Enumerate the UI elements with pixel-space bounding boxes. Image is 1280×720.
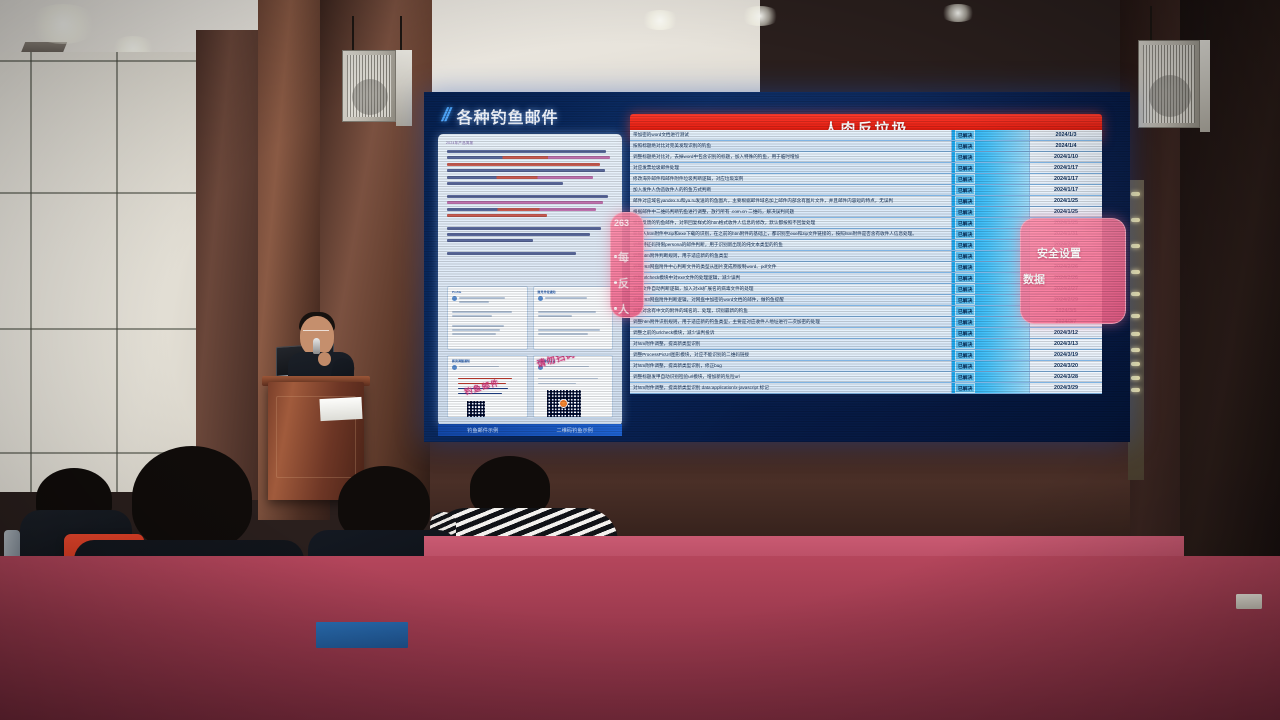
table-row: 修改海外邮件和邮件附件垃圾判断逻辑，对应垃圾案例已解决2024/1/17 <box>630 174 1102 185</box>
conference-room-scene: // 各种钓鱼邮件 2024年产品简报 <box>0 0 1280 720</box>
table-cell-status: 已解决 <box>952 295 1030 305</box>
ceiling-light-6 <box>940 4 976 22</box>
table-cell-description: 按照标题绝对比对完美发现识别的钓鱼 <box>630 141 952 151</box>
table-cell-status: 已解决 <box>952 383 1030 393</box>
slide-title-text: 各种钓鱼邮件 <box>457 104 559 128</box>
table-cell-status: 已解决 <box>952 196 1030 206</box>
status-badge: 已解决 <box>955 372 975 382</box>
led-accent-column <box>1128 180 1144 480</box>
presenter-glasses-icon <box>303 330 329 335</box>
table-cell-date: 2024/3/19 <box>1030 350 1102 360</box>
table-cell-description: 邮件对应域名yandex.ru和ya.ru发送的钓鱼图片，主要根据邮件域名加上邮… <box>630 196 952 206</box>
floor-carpet <box>0 556 1280 720</box>
status-badge: 已解决 <box>955 141 975 151</box>
ceiling-light-1 <box>28 4 98 44</box>
strip-label-left: 钓鱼邮件示例 <box>467 427 498 434</box>
table-cell-description: 调整263网盘附件中心判断文件的类型从图片变成原版制word、pdf文件 <box>630 262 952 272</box>
table-cell-status: 已解决 <box>952 328 1030 338</box>
status-badge: 已解决 <box>955 339 975 349</box>
status-badge: 已解决 <box>955 130 975 140</box>
status-badge: 已解决 <box>955 196 975 206</box>
status-badge: 已解决 <box>955 317 975 327</box>
table-cell-date: 2024/1/17 <box>1030 174 1102 184</box>
status-badge: 已解决 <box>955 295 975 305</box>
mail-thumbnail: Profile <box>447 286 528 350</box>
table-cell-description: 对htm附件调整，提高新类型识别 data:application/x-java… <box>630 383 952 393</box>
pink-overlay-right: 安全设置 数据 <box>1020 218 1126 324</box>
table-cell-status: 已解决 <box>952 317 1030 327</box>
status-badge: 已解决 <box>955 361 975 371</box>
ceiling-light-4 <box>640 10 680 30</box>
overlay-left-number: 263 <box>614 218 629 228</box>
document-card-header: 2024年产品简报 <box>446 140 473 145</box>
table-row: 对应发票垃圾邮件处理已解决2024/1/17 <box>630 163 1102 174</box>
table-cell-date: 2024/3/13 <box>1030 339 1102 349</box>
table-cell-date: 2024/1/3 <box>1030 130 1102 140</box>
table-cell-status: 已解决 <box>952 284 1030 294</box>
table-row: 调整ProcessPicUrl图形模块，对应不能识别的二维码链接已解决2024/… <box>630 350 1102 361</box>
table-cell-date: 2024/3/29 <box>1030 383 1102 393</box>
table-cell-description: 调整对含有中文的附件的域名的、处理，识别最新的钓鱼 <box>630 306 952 316</box>
status-badge: 已解决 <box>955 306 975 316</box>
status-badge: 已解决 <box>955 163 975 173</box>
mail-thumb-header: 薪资调整通知 <box>452 359 470 363</box>
document-card: 2024年产品简报 <box>438 134 622 426</box>
table-row: 对htm附件调整，提高新类型识别已解决2024/3/13 <box>630 339 1102 350</box>
table-cell-description: 修改海外邮件和邮件附件垃圾判断逻辑，对应垃圾案例 <box>630 174 952 184</box>
status-badge: 已解决 <box>955 229 975 239</box>
overlay-right-line-2: 数据 <box>1023 271 1045 287</box>
status-badge: 已解决 <box>955 185 975 195</box>
table-cell-description: 调整标题发甲自动识别检验url模块，增加新的危险url <box>630 372 952 382</box>
table-cell-description: 调整文件自动判断逻辑，加入对xls扩展名的病毒文件的处理 <box>630 284 952 294</box>
overlay-left-item-2: 反 <box>618 275 629 291</box>
mail-thumb-header: Profile <box>452 290 461 294</box>
overlay-left-item-1: 每 <box>618 249 629 265</box>
table-cell-status: 已解决 <box>952 152 1030 162</box>
table-cell-status: 已解决 <box>952 339 1030 349</box>
status-badge: 已解决 <box>955 174 975 184</box>
table-cell-description: 调整htm附件判断规则，用于适应新的钓鱼类型 <box>630 251 952 261</box>
table-cell-description: 对htm附件调整，提高新类型识别，修正bug <box>630 361 952 371</box>
status-badge: 已解决 <box>955 273 975 283</box>
table-cell-status: 已解决 <box>952 361 1030 371</box>
ceiling-light-5 <box>740 6 780 26</box>
table-row: 邮件对应域名yandex.ru和ya.ru发送的钓鱼图片，主要根据邮件域名加上邮… <box>630 196 1102 207</box>
table-row: 根据邮件中二维码判断钓鱼进行调整，放行所有 .com.cn 二维码，解决误判问题… <box>630 207 1102 218</box>
table-cell-date: 2024/1/10 <box>1030 152 1102 162</box>
status-badge: 已解决 <box>955 350 975 360</box>
table-cell-description: 调整ProcessPicUrl图形模块，对应不能识别的二维码链接 <box>630 350 952 360</box>
table-cell-status: 已解决 <box>952 218 1030 228</box>
phishing-stamp: 钓鱼邮件 <box>463 377 501 397</box>
status-badge: 已解决 <box>955 383 975 393</box>
table-cell-status: 已解决 <box>952 350 1030 360</box>
table-row: 调整标题发甲自动识别检验url模块，增加新的危险url已解决2024/3/28 <box>630 372 1102 383</box>
table-cell-date: 2024/1/4 <box>1030 141 1102 151</box>
table-cell-date: 2024/3/12 <box>1030 328 1102 338</box>
status-badge: 已解决 <box>955 251 975 261</box>
table-cell-description: 调整特征码持限persona的邮件判断，用于识别新出现的纯文本类型的钓鱼 <box>630 240 952 250</box>
table-cell-date: 2024/3/20 <box>1030 361 1102 371</box>
table-cell-description: 调整263网盘附件判断逻辑，对网盘中加密的word文档的邮件，做钓鱼提醒 <box>630 295 952 305</box>
table-cell-status: 已解决 <box>952 185 1030 195</box>
table-cell-description: 调整htm附件识别规则，用于适应新的钓鱼类型，主要是对应收件人地址进行二次加密的… <box>630 317 952 327</box>
mail-avatar-icon <box>538 296 543 301</box>
mail-thumbnail: 企业微信认证 请勿扫码 <box>533 355 614 419</box>
table-cell-description: 根据反馈的钓鱼邮件，对带回复样式的htm格式收件人信息的修改，默认都按照不回复处… <box>630 218 952 228</box>
slide-title: // 各种钓鱼邮件 <box>442 104 559 128</box>
table-cell-status: 已解决 <box>952 174 1030 184</box>
table-cell-description: 调整urlcheck模块中对exe文件的处理逻辑，减少误判 <box>630 273 952 283</box>
table-cell-description: 带加密的word文档进行测试 <box>630 130 952 140</box>
qr-center-logo-icon <box>559 399 568 408</box>
slide-bottom-strip: 钓鱼邮件示例 二维码钓鱼示例 <box>438 424 622 436</box>
slash-icon: // <box>439 105 451 127</box>
status-badge: 已解决 <box>955 262 975 272</box>
table-cell-date: 2024/1/17 <box>1030 163 1102 173</box>
table-cell-status: 已解决 <box>952 141 1030 151</box>
microphone-icon <box>313 338 320 354</box>
table-row: 调整标题绝对比对，去掉word中包含识别的标题，加入特殊的钓鱼，用于临时增加已解… <box>630 152 1102 163</box>
table-cell-status: 已解决 <box>952 372 1030 382</box>
table-cell-description: 对htm附件调整，提高新类型识别 <box>630 339 952 349</box>
table-cell-description: 加入发件人伪造收件人的钓鱼方式判断 <box>630 185 952 195</box>
table-cell-date: 2024/3/28 <box>1030 372 1102 382</box>
notepad <box>316 622 408 648</box>
table-row: 带加密的word文档进行测试已解决2024/1/3 <box>630 130 1102 141</box>
table-row: 调整之前的urlcheck模块，减少误判投诉已解决2024/3/12 <box>630 328 1102 339</box>
mail-avatar-icon <box>452 296 457 301</box>
mail-thumbnail: 薪资调整通知 钓鱼邮件 <box>447 355 528 419</box>
overlay-left-item-3: 人 <box>618 301 629 317</box>
table-cell-status: 已解决 <box>952 163 1030 173</box>
mail-thumbnail: 账号异常通知 <box>533 286 614 350</box>
table-cell-status: 已解决 <box>952 251 1030 261</box>
status-badge: 已解决 <box>955 152 975 162</box>
table-cell-date: 2024/1/25 <box>1030 207 1102 217</box>
status-badge: 已解决 <box>955 328 975 338</box>
table-cell-description: 调整标题绝对比对，去掉word中包含识别的标题，加入特殊的钓鱼，用于临时增加 <box>630 152 952 162</box>
status-badge: 已解决 <box>955 218 975 228</box>
overlay-right-line-1: 安全设置 <box>1037 245 1081 261</box>
status-badge: 已解决 <box>955 207 975 217</box>
phishing-stamp: 请勿扫码 <box>534 355 576 370</box>
table-cell-status: 已解决 <box>952 273 1030 283</box>
document-text-lines <box>447 150 613 259</box>
table-cell-status: 已解决 <box>952 130 1030 140</box>
presenter-hand <box>318 352 331 366</box>
table-cell-status: 已解决 <box>952 240 1030 250</box>
table-cell-status: 已解决 <box>952 262 1030 272</box>
mail-thumbnail-grid: Profile 账号异常通知 <box>447 286 613 418</box>
wall-outlet <box>1236 594 1262 609</box>
status-badge: 已解决 <box>955 240 975 250</box>
table-cell-description: 对应发票垃圾邮件处理 <box>630 163 952 173</box>
table-cell-status: 已解决 <box>952 306 1030 316</box>
table-row: 对htm附件调整，提高新类型识别 data:application/x-java… <box>630 383 1102 394</box>
table-cell-date: 2024/1/25 <box>1030 196 1102 206</box>
table-cell-status: 已解决 <box>952 229 1030 239</box>
table-row: 按照标题绝对比对完美发现识别的钓鱼已解决2024/1/4 <box>630 141 1102 152</box>
table-cell-status: 已解决 <box>952 207 1030 217</box>
strip-label-right: 二维码钓鱼示例 <box>557 427 593 434</box>
table-cell-description: 新加入htm附件中zip和exe下载的识别，在之前的htm附件的基础上，都识别至… <box>630 229 952 239</box>
pink-overlay-left: 263 每 反 人 <box>610 212 644 318</box>
table-cell-date: 2024/1/17 <box>1030 185 1102 195</box>
table-row: 对htm附件调整，提高新类型识别，修正bug已解决2024/3/20 <box>630 361 1102 372</box>
podium-paper <box>319 397 362 421</box>
status-badge: 已解决 <box>955 284 975 294</box>
qr-code <box>466 400 486 419</box>
mail-thumb-header: 账号异常通知 <box>538 290 556 294</box>
mail-avatar-icon <box>452 365 457 370</box>
led-presentation-screen: // 各种钓鱼邮件 2024年产品简报 <box>424 92 1130 442</box>
table-row: 加入发件人伪造收件人的钓鱼方式判断已解决2024/1/17 <box>630 185 1102 196</box>
table-cell-description: 根据邮件中二维码判断钓鱼进行调整，放行所有 .com.cn 二维码，解决误判问题 <box>630 207 952 217</box>
table-cell-description: 调整之前的urlcheck模块，减少误判投诉 <box>630 328 952 338</box>
